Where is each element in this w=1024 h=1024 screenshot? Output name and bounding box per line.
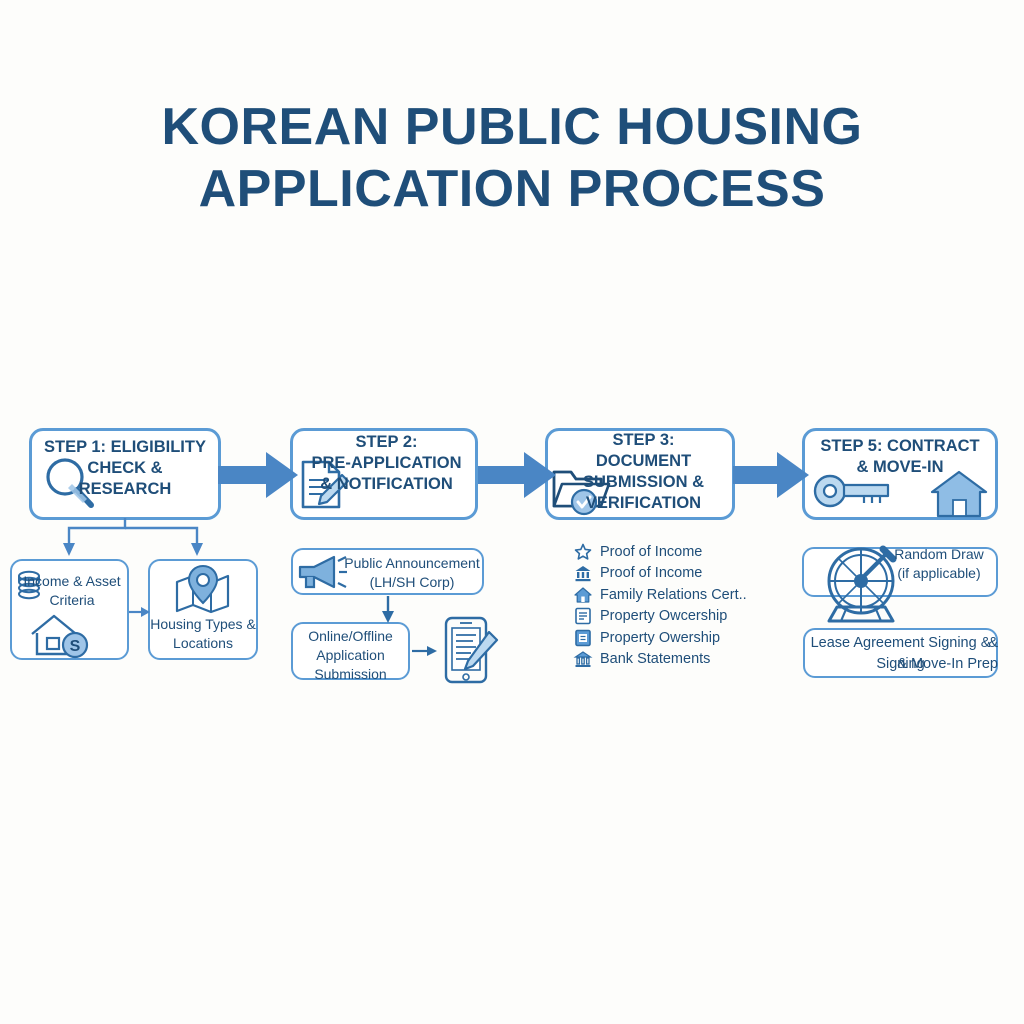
list-item: Bank Statements [574,649,774,671]
list-item: Property Owership [574,627,774,649]
page-title-line-2: APPLICATION PROCESS [0,158,1024,220]
list-item-label: Bank Statements [600,651,710,667]
infographic-canvas: KOREAN PUBLIC HOUSING APPLICATION PROCES… [0,0,1024,1024]
page-title: KOREAN PUBLIC HOUSING APPLICATION PROCES… [0,96,1024,220]
list-item-label: Proof of Income [600,544,702,560]
house-icon [930,470,988,518]
list-item: Family Relations Cert.. [574,584,774,606]
star-icon [574,543,592,561]
flow-arrow-2-to-3 [478,452,556,498]
map-pin-icon [173,564,233,614]
magnifier-icon [41,455,99,513]
list-item: Property Owcership [574,606,774,628]
sub-arrow-submission-to-device [412,643,438,659]
badge-document-icon [574,629,592,647]
list-item: Proof of Income [574,563,774,585]
flow-arrow-3-to-5 [733,452,809,498]
sub-box-lease-signing[interactable] [803,628,998,678]
sub-arrow-income-to-housing [129,604,151,620]
list-item-label: Family Relations Cert.. [600,587,747,603]
bank-icon [574,650,592,668]
flow-arrow-1-to-2 [218,452,298,498]
certificate-icon [574,607,592,625]
key-icon [812,472,892,510]
coins-stack-icon [16,570,42,602]
home-icon [574,586,592,604]
step-2-sub-connector [381,596,395,624]
bank-icon [574,564,592,582]
megaphone-icon [296,553,348,593]
house-dollar-icon: S [27,612,97,658]
document-pencil-icon [299,459,349,511]
folder-check-icon [551,462,611,514]
list-item-label: Proof of Income [600,565,702,581]
step-3-document-list: Proof of Income Proof of Income [574,541,774,670]
svg-text:S: S [70,638,81,655]
list-item: Proof of Income [574,541,774,563]
page-title-line-1: KOREAN PUBLIC HOUSING [0,96,1024,158]
tablet-pencil-icon [443,616,499,684]
lottery-drum-icon [817,545,905,623]
list-item-label: Property Owership [600,630,720,646]
sub-box-application-submission[interactable] [291,622,410,680]
step-1-branch-connectors [29,518,229,560]
list-item-label: Property Owcership [600,608,727,624]
